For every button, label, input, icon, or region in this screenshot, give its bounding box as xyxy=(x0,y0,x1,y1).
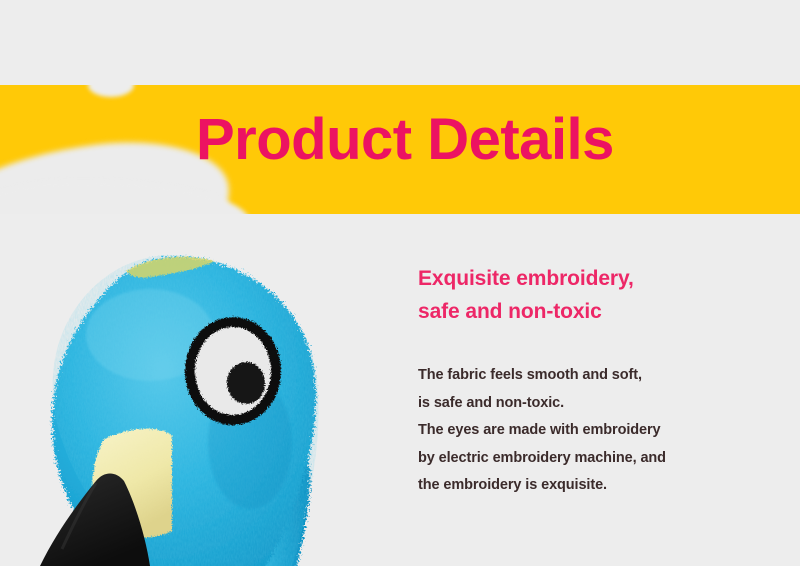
feature-body-text: The fabric feels smooth and soft, is saf… xyxy=(418,362,748,500)
feature-heading-line-1: Exquisite embroidery, xyxy=(418,262,748,295)
feature-body-line-5: the embroidery is exquisite. xyxy=(418,472,748,500)
feature-body-line-2: is safe and non-toxic. xyxy=(418,390,748,418)
feature-text-column: Exquisite embroidery, safe and non-toxic… xyxy=(418,262,748,500)
page-title: Product Details xyxy=(196,108,614,172)
plush-bird-illustration xyxy=(0,243,340,566)
feature-heading-line-2: safe and non-toxic xyxy=(418,295,748,328)
feature-body-line-4: by electric embroidery machine, and xyxy=(418,445,748,473)
product-details-page: Product Details xyxy=(0,0,800,566)
feature-body-line-3: The eyes are made with embroidery xyxy=(418,417,748,445)
feature-heading: Exquisite embroidery, safe and non-toxic xyxy=(418,262,748,328)
feature-body-line-1: The fabric feels smooth and soft, xyxy=(418,362,748,390)
embroidered-eye xyxy=(185,317,281,425)
banner-notch-decoration xyxy=(88,85,134,97)
product-photo xyxy=(0,243,340,566)
